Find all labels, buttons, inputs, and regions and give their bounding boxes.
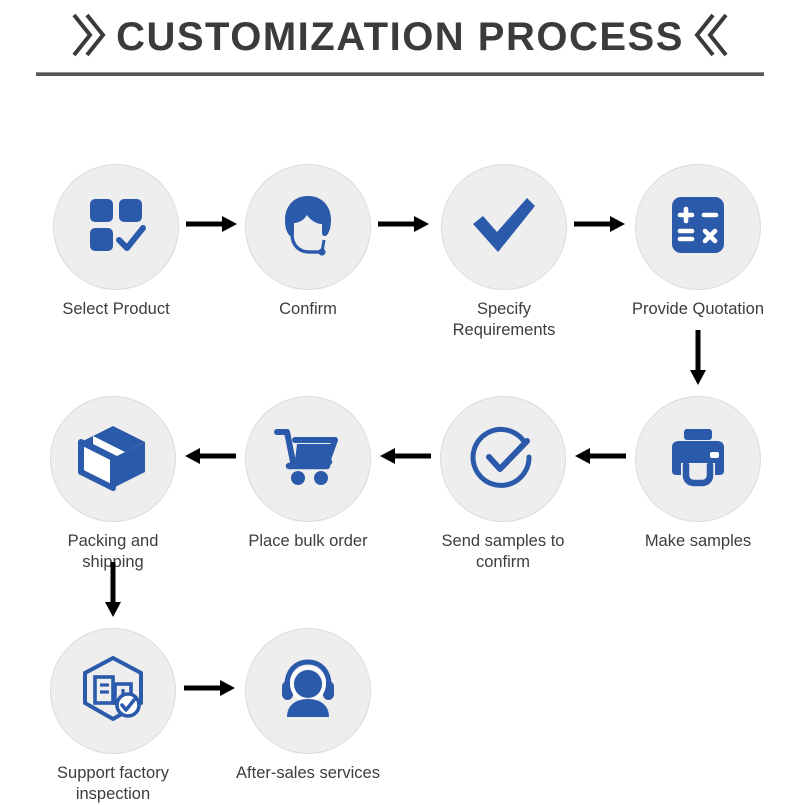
arrow-down-1 bbox=[688, 330, 708, 386]
double-chevron-left-icon bbox=[694, 11, 732, 64]
arrow-right-4 bbox=[184, 678, 236, 698]
arrow-left-3 bbox=[184, 446, 236, 466]
headphones-person-icon bbox=[273, 657, 343, 726]
printer-icon bbox=[664, 425, 732, 494]
factory-inspection-icon bbox=[77, 653, 149, 730]
step-node-make-samples[interactable]: Make samples bbox=[623, 396, 773, 552]
arrow-right-2 bbox=[378, 214, 430, 234]
arrow-right-3 bbox=[574, 214, 626, 234]
step-label: Support factory inspection bbox=[38, 763, 188, 805]
step-label: Confirm bbox=[233, 299, 383, 320]
step-icon-circle bbox=[441, 164, 567, 290]
step-node-packing-and-shipping[interactable]: Packing and shipping bbox=[38, 396, 188, 573]
calculator-icon bbox=[666, 193, 730, 262]
step-node-send-samples-to-confirm[interactable]: Send samples to confirm bbox=[428, 396, 578, 573]
step-icon-circle bbox=[53, 164, 179, 290]
step-icon-circle bbox=[635, 396, 761, 522]
step-icon-circle bbox=[245, 396, 371, 522]
arrow-left-1 bbox=[574, 446, 626, 466]
package-box-icon bbox=[77, 422, 149, 497]
step-icon-circle bbox=[245, 164, 371, 290]
page-header: CUSTOMIZATION PROCESS bbox=[0, 0, 800, 88]
step-label: Send samples to confirm bbox=[428, 531, 578, 573]
step-node-place-bulk-order[interactable]: Place bulk order bbox=[233, 396, 383, 552]
step-node-support-factory-inspection[interactable]: Support factory inspection bbox=[38, 628, 188, 805]
step-label: After-sales services bbox=[233, 763, 383, 784]
header-divider bbox=[36, 72, 764, 76]
step-icon-circle bbox=[50, 628, 176, 754]
arrow-right-1 bbox=[186, 214, 238, 234]
arrow-left-2 bbox=[379, 446, 431, 466]
step-label: Specify Requirements bbox=[429, 299, 579, 341]
step-node-after-sales-services[interactable]: After-sales services bbox=[233, 628, 383, 784]
headset-agent-icon bbox=[273, 190, 343, 265]
step-node-provide-quotation[interactable]: Provide Quotation bbox=[623, 164, 773, 320]
step-icon-circle bbox=[50, 396, 176, 522]
step-icon-circle bbox=[635, 164, 761, 290]
shopping-cart-icon bbox=[273, 424, 343, 495]
checkmark-icon bbox=[467, 188, 541, 267]
step-label: Place bulk order bbox=[233, 531, 383, 552]
step-label: Provide Quotation bbox=[623, 299, 773, 320]
step-label: Select Product bbox=[41, 299, 191, 320]
check-circle-icon bbox=[467, 421, 539, 498]
arrow-down-2 bbox=[103, 562, 123, 618]
step-node-select-product[interactable]: Select Product bbox=[41, 164, 191, 320]
step-icon-circle bbox=[245, 628, 371, 754]
step-label: Make samples bbox=[623, 531, 773, 552]
step-node-specify-requirements[interactable]: Specify Requirements bbox=[429, 164, 579, 341]
step-node-confirm[interactable]: Confirm bbox=[233, 164, 383, 320]
title-row: CUSTOMIZATION PROCESS bbox=[0, 8, 800, 66]
page-title: CUSTOMIZATION PROCESS bbox=[116, 17, 684, 57]
double-chevron-right-icon bbox=[68, 11, 106, 64]
step-icon-circle bbox=[440, 396, 566, 522]
grid-check-icon bbox=[83, 192, 149, 263]
